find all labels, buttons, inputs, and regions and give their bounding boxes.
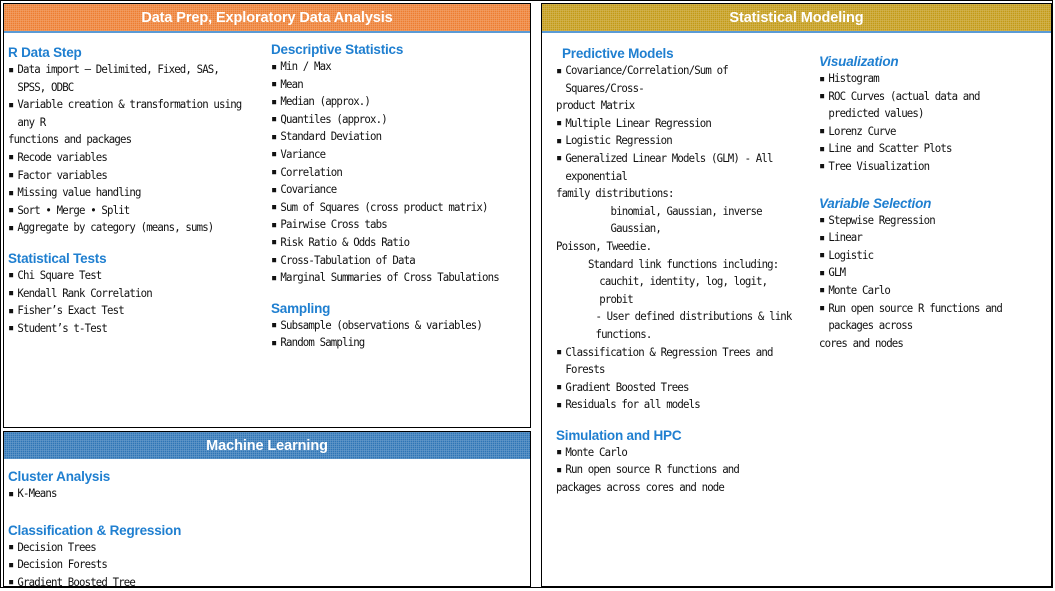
- list-item-distribution-line-1: binomial, Gaussian, inverse Gaussian,: [556, 203, 793, 238]
- list-item: Mean: [271, 76, 511, 94]
- list-item: ROC Curves (actual data and predicted va…: [819, 88, 1033, 123]
- statistical-modeling-left-column: Predictive Models Covariance/Correlation…: [556, 46, 808, 497]
- heading-classification-regression: Classification & Regression: [8, 523, 308, 538]
- statistical-modeling-title: Statistical Modeling: [729, 10, 863, 26]
- heading-statistical-tests: Statistical Tests: [8, 251, 266, 266]
- list-item: Multiple Linear Regression: [556, 115, 793, 133]
- spacer: [8, 503, 308, 523]
- list-item: Sum of Squares (cross product matrix): [271, 199, 511, 217]
- heading-r-data-step: R Data Step: [8, 45, 266, 60]
- list-item: Risk Ratio & Odds Ratio: [271, 234, 511, 252]
- infographic-page: Data Prep, Exploratory Data Analysis R D…: [0, 0, 1053, 588]
- list-item: Decision Trees: [8, 539, 290, 557]
- list-item: Generalized Linear Models (GLM) - All ex…: [556, 150, 793, 185]
- list-predictive-models: Covariance/Correlation/Sum of Squares/Cr…: [556, 62, 808, 414]
- list-item: Histogram: [819, 70, 1033, 88]
- heading-variable-selection: Variable Selection: [819, 196, 1047, 211]
- list-item: Covariance: [271, 181, 511, 199]
- list-statistical-tests: Chi Square Test Kendall Rank Correlation…: [8, 267, 266, 337]
- list-item: Line and Scatter Plots: [819, 140, 1033, 158]
- list-item: Correlation: [271, 164, 511, 182]
- list-r-data-step: Data import – Delimited, Fixed, SAS, SPS…: [8, 61, 266, 237]
- list-item: Cross-Tabulation of Data: [271, 252, 511, 270]
- list-item: Factor variables: [8, 167, 251, 185]
- data-prep-header-bar: Data Prep, Exploratory Data Analysis: [4, 4, 530, 33]
- list-item: Subsample (observations & variables): [271, 317, 511, 335]
- panel-statistical-modeling: Statistical Modeling Predictive Models C…: [541, 3, 1052, 587]
- list-descriptive-statistics: Min / Max Mean Median (approx.) Quantile…: [271, 58, 526, 287]
- machine-learning-title: Machine Learning: [206, 438, 328, 454]
- list-item-distribution-line-2: Poisson, Tweedie.: [556, 238, 793, 256]
- panel-data-prep: Data Prep, Exploratory Data Analysis R D…: [3, 3, 531, 428]
- list-item: Lorenz Curve: [819, 123, 1033, 141]
- list-item: Data import – Delimited, Fixed, SAS, SPS…: [8, 61, 251, 96]
- machine-learning-header-bar: Machine Learning: [4, 432, 530, 459]
- panel-machine-learning: Machine Learning Cluster Analysis K-Mean…: [3, 431, 531, 587]
- list-item: Run open source R functions and: [556, 461, 793, 479]
- heading-cluster-analysis: Cluster Analysis: [8, 469, 308, 484]
- heading-simulation-hpc: Simulation and HPC: [556, 428, 808, 443]
- list-item: Classification & Regression Trees and Fo…: [556, 344, 793, 379]
- list-item: Random Sampling: [271, 334, 511, 352]
- list-item-continuation: functions and packages: [8, 131, 251, 149]
- heading-descriptive-statistics: Descriptive Statistics: [271, 42, 526, 57]
- list-item: Kendall Rank Correlation: [8, 285, 251, 303]
- list-sampling: Subsample (observations & variables) Ran…: [271, 317, 526, 352]
- list-item: Recode variables: [8, 149, 251, 167]
- list-item: GLM: [819, 264, 1033, 282]
- statistical-modeling-header-bar: Statistical Modeling: [542, 4, 1051, 33]
- statistical-modeling-right-column: Visualization Histogram ROC Curves (actu…: [819, 54, 1047, 352]
- list-item: Quantiles (approx.): [271, 111, 511, 129]
- list-variable-selection: Stepwise Regression Linear Logistic GLM …: [819, 212, 1047, 353]
- list-item: Logistic: [819, 247, 1033, 265]
- list-cluster-analysis: K-Means: [8, 485, 308, 503]
- list-item: Residuals for all models: [556, 396, 793, 414]
- list-classification-regression: Decision Trees Decision Forests Gradient…: [8, 539, 308, 591]
- list-item: Monte Carlo: [819, 282, 1033, 300]
- spacer: [556, 414, 808, 428]
- list-item: Marginal Summaries of Cross Tabulations: [271, 269, 511, 287]
- heading-sampling: Sampling: [271, 301, 526, 316]
- list-item: Tree Visualization: [819, 158, 1033, 176]
- list-item-continuation: cores and nodes: [819, 335, 1033, 353]
- data-prep-right-column: Descriptive Statistics Min / Max Mean Me…: [271, 42, 526, 352]
- spacer: [271, 287, 526, 301]
- list-item-user-defined: - User defined distributions & link func…: [556, 308, 793, 343]
- list-item-continuation: packages across cores and node: [556, 479, 793, 497]
- data-prep-columns: R Data Step Data import – Delimited, Fix…: [4, 33, 530, 427]
- list-item-continuation: family distributions:: [556, 185, 793, 203]
- machine-learning-left-column: Cluster Analysis K-Means Classification …: [8, 469, 308, 591]
- list-simulation-hpc: Monte Carlo Run open source R functions …: [556, 444, 808, 497]
- list-item: Variable creation & transformation using…: [8, 96, 251, 131]
- list-item: Decision Forests: [8, 556, 290, 574]
- list-item: Missing value handling: [8, 184, 251, 202]
- data-prep-left-column: R Data Step Data import – Delimited, Fix…: [8, 45, 266, 337]
- list-item: Covariance/Correlation/Sum of Squares/Cr…: [556, 62, 793, 97]
- list-item: Standard Deviation: [271, 128, 511, 146]
- list-item: Run open source R functions and packages…: [819, 300, 1033, 335]
- statistical-modeling-columns: Predictive Models Covariance/Correlation…: [542, 33, 1051, 586]
- list-item: Aggregate by category (means, sums): [8, 219, 251, 237]
- list-item: Sort • Merge • Split: [8, 202, 251, 220]
- list-item: Min / Max: [271, 58, 511, 76]
- spacer: [819, 176, 1047, 196]
- list-item: Logistic Regression: [556, 132, 793, 150]
- list-item: Stepwise Regression: [819, 212, 1033, 230]
- heading-visualization: Visualization: [819, 54, 1047, 69]
- data-prep-title: Data Prep, Exploratory Data Analysis: [141, 10, 392, 26]
- list-item-link-functions-values: cauchit, identity, log, logit, probit: [556, 273, 793, 308]
- list-item: Monte Carlo: [556, 444, 793, 462]
- list-item: K-Means: [8, 485, 290, 503]
- list-item: Student’s t-Test: [8, 320, 251, 338]
- list-item: Gradient Boosted Trees: [556, 379, 793, 397]
- list-item: Linear: [819, 229, 1033, 247]
- list-item: Fisher’s Exact Test: [8, 302, 251, 320]
- heading-predictive-models: Predictive Models: [556, 46, 808, 61]
- list-item: Gradient Boosted Tree: [8, 574, 290, 591]
- list-item: Median (approx.): [271, 93, 511, 111]
- list-visualization: Histogram ROC Curves (actual data and pr…: [819, 70, 1047, 176]
- list-item-continuation: product Matrix: [556, 97, 793, 115]
- list-item: Variance: [271, 146, 511, 164]
- machine-learning-columns: Cluster Analysis K-Means Classification …: [4, 459, 530, 585]
- list-item-link-functions-label: Standard link functions including:: [556, 256, 793, 274]
- spacer: [8, 237, 266, 251]
- list-item: Pairwise Cross tabs: [271, 216, 511, 234]
- list-item: Chi Square Test: [8, 267, 251, 285]
